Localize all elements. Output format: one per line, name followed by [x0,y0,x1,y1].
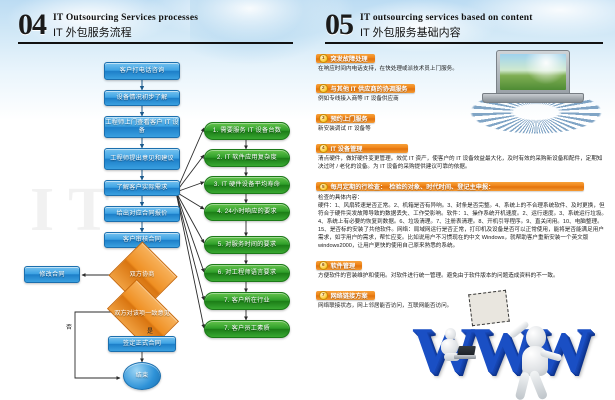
section-heading-text: 预约上门服务 [331,114,368,123]
content-section-5: 5 每月定期的行检查： 检验的对象、时代时间、登记主申报： 检查的具体内容： 硬… [316,175,608,251]
www-illustration: WWW [408,290,608,398]
requirement-node-5[interactable]: 5. 对服务时间的要求 [204,236,290,254]
figure-leg-front [529,369,549,400]
section-body-text: 方便软件的官装维护和使用。对软件进行统一管理。避免由于软件版本的问题造成资料的不… [318,272,608,280]
section-body: 在响应时间内电话支持，在快处理或派技术员上门服务。 [318,65,608,73]
section-heading: 1 突发故障处理 [316,54,375,63]
requirement-node-3[interactable]: 3. IT 硬件设备平均寿命 [204,176,290,194]
edge-label-yes: 是 [147,326,153,335]
section-number: 05 [325,10,353,40]
requirement-node-7[interactable]: 7. 客户所在行业 [204,292,290,310]
number-badge: 4 [319,144,328,153]
section-heading: 6 软件管理 [316,261,362,270]
number-badge: 2 [319,84,328,93]
running-figure [504,312,570,398]
header-rule [325,42,603,44]
content-section-3: 3 预约上门服务 新安装调试 IT 设备等 [316,106,608,133]
small-laptop-icon [454,346,476,360]
flow-node-n5[interactable]: 了解客户实际需求 [104,180,180,196]
section-heading: 2 与其他 IT 供应商的协调服务 [316,84,415,93]
requirement-node-2[interactable]: 2. IT 软件应用复杂度 [204,149,290,167]
section-body-label: 检查的具体内容： [318,194,608,202]
section-heading: 4 IT 设备管理 [316,144,408,153]
section-heading-text: 网络链接方案 [331,291,368,300]
section-body-text: 在响应时间内电话支持，在快处理或派技术员上门服务。 [318,65,608,73]
decision-label: 双方对该项一致意见 [113,294,171,334]
poster-page: IT 04 IT Outsourcing Services processes … [0,0,615,400]
content-section-6: 6 软件管理 方便软件的官装维护和使用。对软件进行统一管理。避免由于软件版本的问… [316,253,608,280]
requirement-node-4[interactable]: 4. 24小时响应的要求 [204,203,290,221]
flow-node-end[interactable]: 结束 [123,362,161,390]
flow-node-n4[interactable]: 工程师提出意见和建议 [104,148,180,170]
section-body-text: 例如专线接入商等 IT 设备供应商 [318,95,608,103]
content-section-1: 1 突发故障处理 在响应时间内电话支持，在快处理或派技术员上门服务。 [316,46,608,73]
requirement-node-6[interactable]: 6. 对工程师语言要求 [204,264,290,282]
section-body: 清点硬件，做好硬件变更管理。效优 IT 资产，使客户的 IT 设备效益最大化，及… [318,155,608,171]
flow-node-n3[interactable]: 工程师上门查看客户 IT 设备 [104,116,180,138]
flow-node-n6[interactable]: 给出对应合同报价 [104,206,180,222]
section-body: 新安装调试 IT 设备等 [318,125,608,133]
section-title-cn: IT 外包服务流程 [53,24,198,40]
number-badge: 3 [319,114,328,123]
content-section-4: 4 IT 设备管理 清点硬件，做好硬件变更管理。效优 IT 资产，使客户的 IT… [316,136,608,171]
flow-node-n9[interactable]: 签定正式合同 [108,336,176,352]
section-title-en: IT outsourcing services based on content [360,13,533,23]
section-title-cn: IT 外包服务基础内容 [360,24,533,40]
section-title-en: IT Outsourcing Services processes [53,13,198,23]
section-number: 04 [18,10,46,40]
content-panel: 1 突发故障处理 在响应时间内电话支持，在快处理或派技术员上门服务。 2 与其他… [316,46,608,308]
edge-label-no: 否 [66,322,72,331]
section-header-04: 04 IT Outsourcing Services processes IT … [18,10,293,44]
section-body: 方便软件的官装维护和使用。对软件进行统一管理。避免由于软件版本的问题造成资料的不… [318,272,608,280]
header-rule [18,42,293,44]
number-badge: 6 [319,261,328,270]
content-section-2: 2 与其他 IT 供应商的协调服务 例如专线接入商等 IT 设备供应商 [316,76,608,103]
section-heading: 3 预约上门服务 [316,114,375,123]
flow-node-n8[interactable]: 修改合同 [24,266,80,283]
requirement-node-1[interactable]: 1. 需要服务 IT 设备台数 [204,122,290,140]
section-body: 检查的具体内容： 硬件：1、风扇转速是否正常。2、机箱是否有异响。3、封条是否完… [318,194,608,251]
laptop-keyboard [454,355,476,359]
section-body-text: 清点硬件，做好硬件变更管理。效优 IT 资产，使客户的 IT 设备效益最大化，及… [318,155,608,171]
section-body: 例如专线接入商等 IT 设备供应商 [318,95,608,103]
section-heading: 7 网络链接方案 [316,291,375,300]
number-badge: 5 [319,183,328,192]
flow-decision-d2[interactable]: 双方对该项一致意见 [113,294,171,334]
section-heading-text: 软件管理 [331,261,356,270]
requirement-node-8[interactable]: 7. 客户员工素质 [204,320,290,338]
section-heading-text: 突发故障处理 [331,54,368,63]
section-heading-text: 每月定期的行检查： [331,182,387,191]
section-heading: 5 每月定期的行检查： 检验的对象、时代时间、登记主申报： [316,182,584,191]
number-badge: 1 [319,54,328,63]
section-heading-text-2: 检验的对象、时代时间、登记主申报： [389,182,494,191]
section-body-text: 新安装调试 IT 设备等 [318,125,608,133]
small-figure-with-laptop [436,328,470,364]
number-badge: 7 [319,291,328,300]
section-heading-text: 与其他 IT 供应商的协调服务 [331,84,408,93]
flow-node-n2[interactable]: 设备情况初步了解 [104,90,180,106]
figure-leg-back [515,371,531,400]
section-body-text: 硬件：1、风扇转速是否正常。2、机箱是否有异响。3、封条是否完整。4、系统上的不… [318,202,608,251]
section-header-05: 05 IT outsourcing services based on cont… [325,10,603,44]
section-heading-text: IT 设备管理 [331,144,363,153]
flow-node-n1[interactable]: 客户打电话咨询 [104,62,180,80]
